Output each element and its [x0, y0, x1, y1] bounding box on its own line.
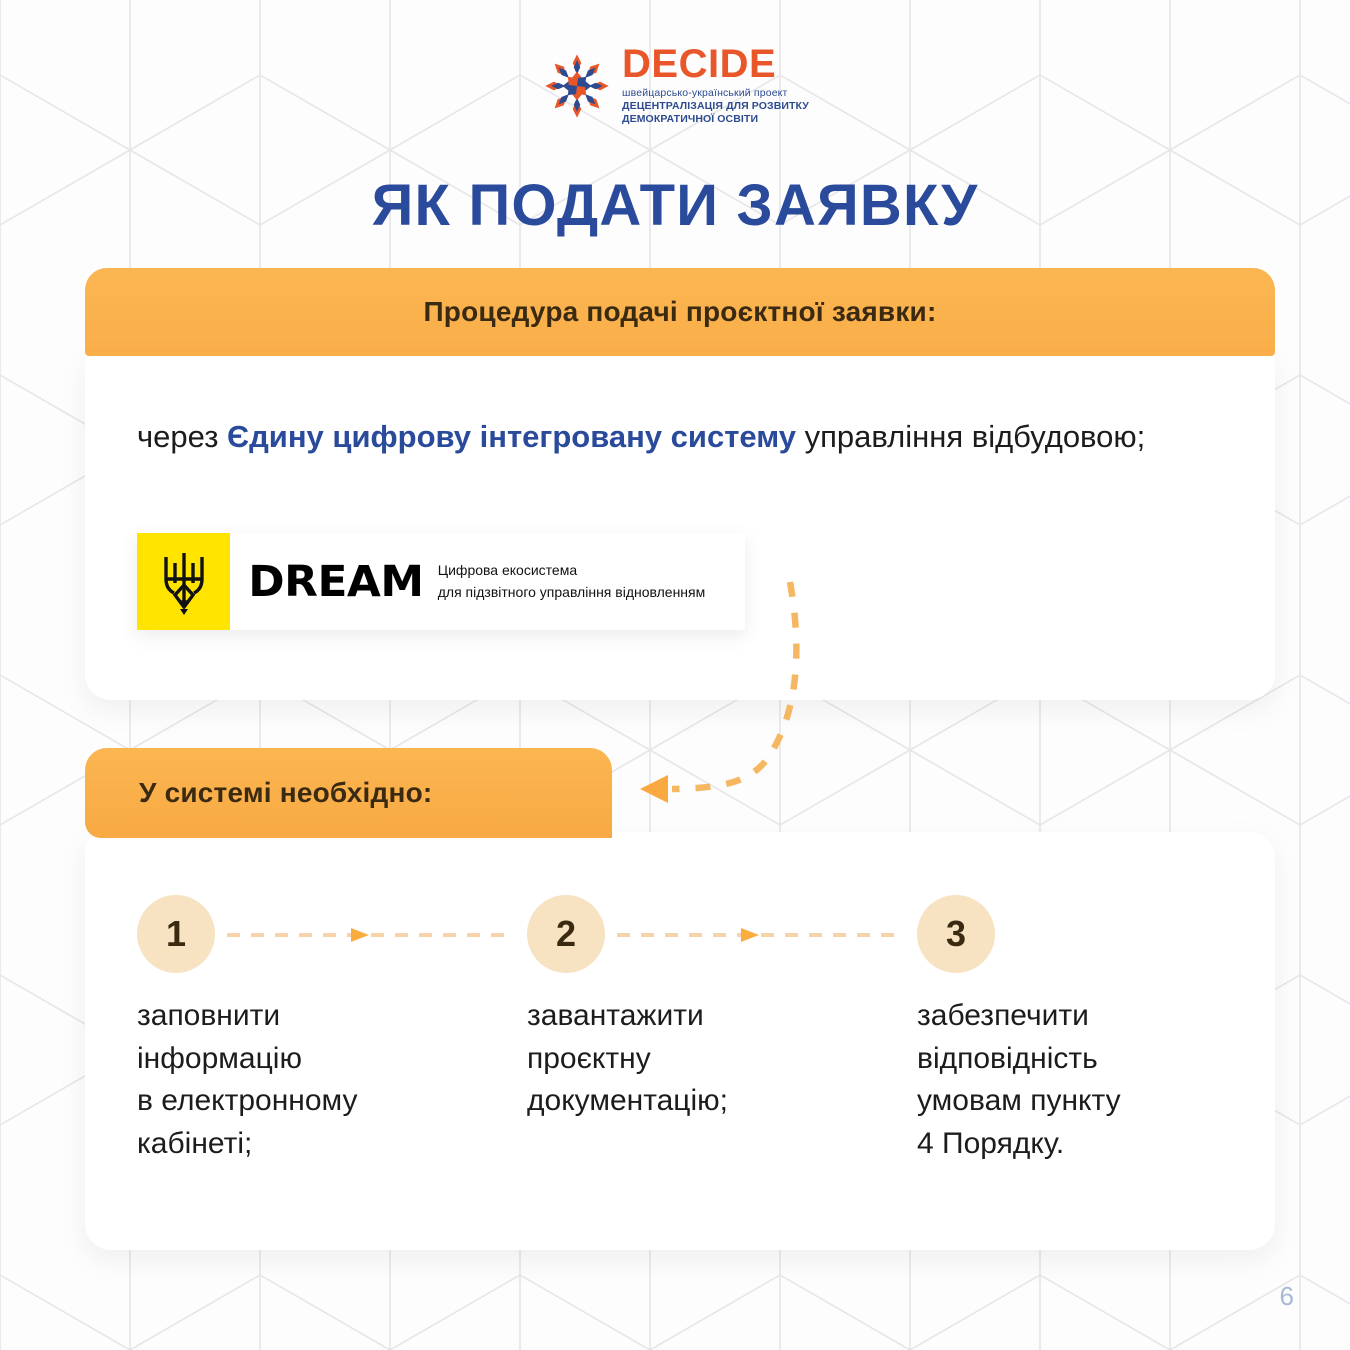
- steps-band-label: У системі необхідно:: [85, 777, 432, 809]
- step-text-1: заповнити інформацію в електронному кабі…: [137, 995, 527, 1165]
- steps-badge-row: 1 2 3: [137, 895, 1247, 973]
- body-highlight: Єдину цифрову інтегровану систему: [227, 419, 796, 454]
- dream-logo-card[interactable]: DREAM Цифрова екосистема для підзвітного…: [137, 533, 745, 630]
- decide-snowflake-icon: [541, 50, 613, 122]
- page-title: ЯК ПОДАТИ ЗАЯВКУ: [0, 172, 1350, 239]
- procedure-body-text: через Єдину цифрову інтегровану систему …: [137, 415, 1197, 459]
- steps-band: У системі необхідно:: [85, 748, 612, 838]
- dream-tagline-line2: для підзвітного управління відновленням: [438, 584, 706, 601]
- dashed-arrow-right-icon: [227, 928, 515, 942]
- decide-logo: DECIDE швейцарсько-український проект ДЕ…: [0, 45, 1350, 126]
- dream-tagline-line1: Цифрова екосистема: [438, 562, 706, 579]
- slide-root: DECIDE швейцарсько-український проект ДЕ…: [0, 0, 1350, 1350]
- step-text-2: завантажити проєктну документацію;: [527, 995, 917, 1165]
- step-badge-3: 3: [917, 895, 995, 973]
- step-text-3: забезпечити відповідність умовам пункту …: [917, 995, 1267, 1165]
- steps-text-row: заповнити інформацію в електронному кабі…: [137, 995, 1267, 1165]
- procedure-band: Процедура подачі проєктної заявки:: [85, 268, 1275, 356]
- page-number: 6: [1280, 1281, 1294, 1312]
- dream-wordmark: DREAM: [248, 557, 423, 607]
- procedure-card: [85, 356, 1275, 700]
- body-prefix: через: [137, 419, 227, 454]
- logo-subtitle-line1: швейцарсько-український проект: [622, 87, 809, 100]
- logo-subtitle-line2: ДЕЦЕНТРАЛІЗАЦІЯ ДЛЯ РОЗВИТКУ: [622, 100, 809, 113]
- procedure-band-label: Процедура подачі проєктної заявки:: [423, 296, 936, 328]
- ukraine-trident-icon: [158, 549, 210, 615]
- body-suffix: управління відбудовою;: [796, 419, 1145, 454]
- dream-flag-panel: [137, 533, 230, 630]
- step-badge-1: 1: [137, 895, 215, 973]
- dashed-arrow-right-icon: [617, 928, 905, 942]
- logo-subtitle-line3: ДЕМОКРАТИЧНОЇ ОСВІТИ: [622, 113, 809, 126]
- step-badge-2: 2: [527, 895, 605, 973]
- logo-wordmark: DECIDE: [622, 45, 809, 83]
